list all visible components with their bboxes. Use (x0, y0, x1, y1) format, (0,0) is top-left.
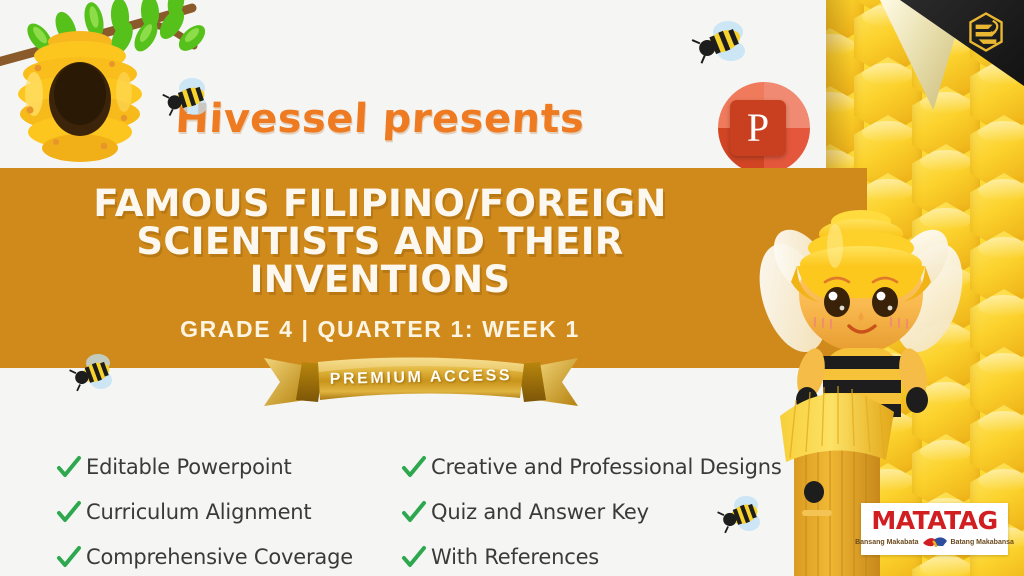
title-line-2: SCIENTISTS AND THEIR (0, 223, 760, 261)
hivessel-hex-logo-icon (968, 12, 1004, 52)
feature-item: Quiz and Answer Key (401, 493, 786, 530)
feature-label: Curriculum Alignment (86, 500, 311, 524)
bee-icon (160, 76, 216, 120)
title-line-1: FAMOUS FILIPINO/FOREIGN (0, 185, 760, 223)
check-icon (56, 544, 82, 570)
promotional-slide: Hivessel presents P FAMOUS FILIPINO/FORE… (0, 0, 1024, 576)
check-icon (401, 544, 427, 570)
powerpoint-letter-tile: P (730, 100, 786, 156)
bee-icon (68, 352, 120, 394)
check-icon (401, 499, 427, 525)
matatag-hands-icon (922, 534, 948, 550)
matatag-logo: MATATAG Bansang Makabata Batang Makabans… (861, 503, 1008, 555)
powerpoint-icon[interactable]: P (718, 82, 810, 174)
presents-headline: Hivessel presents (0, 96, 761, 142)
matatag-tagline-right: Batang Makabansa (951, 539, 1014, 546)
page-title: FAMOUS FILIPINO/FOREIGN SCIENTISTS AND T… (0, 185, 760, 299)
feature-label: Quiz and Answer Key (431, 500, 649, 524)
feature-label: Creative and Professional Designs (431, 455, 782, 479)
feature-column-right: Creative and Professional Designs Quiz a… (401, 448, 786, 575)
check-icon (56, 454, 82, 480)
feature-label: With References (431, 545, 599, 569)
matatag-tagline-left: Bansang Makabata (855, 539, 918, 546)
feature-item: With References (401, 538, 786, 575)
feature-item: Comprehensive Coverage (56, 538, 401, 575)
feature-column-left: Editable Powerpoint Curriculum Alignment… (56, 448, 401, 575)
bee-icon (690, 18, 752, 66)
feature-label: Editable Powerpoint (86, 455, 292, 479)
feature-item: Creative and Professional Designs (401, 448, 786, 485)
premium-ribbon-banner: PREMIUM ACCESS (262, 352, 580, 410)
powerpoint-letter: P (747, 108, 769, 148)
grade-quarter-subtitle: GRADE 4 | QUARTER 1: WEEK 1 (0, 316, 760, 343)
title-line-3: INVENTIONS (0, 261, 760, 299)
check-icon (56, 499, 82, 525)
feature-label: Comprehensive Coverage (86, 545, 353, 569)
check-icon (401, 454, 427, 480)
feature-item: Editable Powerpoint (56, 448, 401, 485)
matatag-tagline: Bansang Makabata Batang Makabansa (855, 534, 1014, 550)
matatag-wordmark: MATATAG (871, 508, 997, 533)
feature-list: Editable Powerpoint Curriculum Alignment… (56, 448, 786, 575)
feature-item: Curriculum Alignment (56, 493, 401, 530)
